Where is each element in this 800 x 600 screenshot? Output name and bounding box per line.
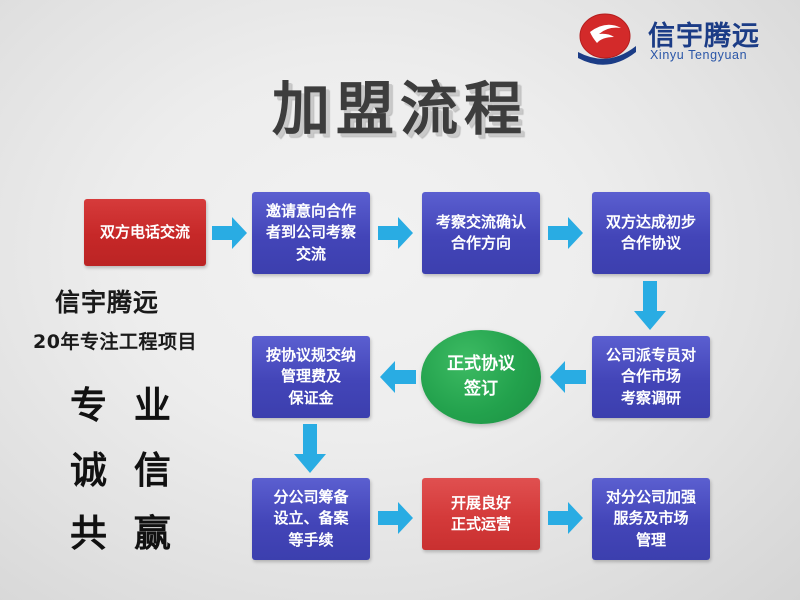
- logo-company-name-en: Xinyu Tengyuan: [650, 48, 747, 62]
- left-brand-name: 信宇腾远: [55, 283, 159, 319]
- flow-node-1[interactable]: 双方电话交流: [84, 199, 206, 266]
- left-brand-subtitle: 20年专注工程项目: [33, 327, 197, 354]
- flow-node-8[interactable]: 分公司筹备设立、备案等手续: [252, 478, 370, 560]
- page-title: 加盟流程: [0, 62, 800, 146]
- flow-node-5-label: 公司派专员对合作市场考察调研: [606, 345, 696, 409]
- arrow-n8-n9: [378, 501, 414, 535]
- arrow-n4-n5: [633, 281, 667, 331]
- flow-node-8-label: 分公司筹备设立、备案等手续: [273, 487, 348, 551]
- arrow-n3-n4: [548, 216, 584, 250]
- flow-node-7-label: 按协议规交纳管理费及保证金: [266, 345, 356, 409]
- arrow-n2-n3: [378, 216, 414, 250]
- flow-node-2-label: 邀请意向合作者到公司考察交流: [266, 201, 356, 265]
- arrow-n6-n7: [378, 360, 416, 394]
- flow-node-6[interactable]: 正式协议签订: [421, 330, 541, 424]
- flow-node-2[interactable]: 邀请意向合作者到公司考察交流: [252, 192, 370, 274]
- flow-node-10-label: 对分公司加强服务及市场管理: [606, 487, 696, 551]
- flow-node-9-label: 开展良好正式运营: [451, 493, 511, 536]
- slogan-item-1: 专 业: [70, 375, 178, 429]
- flow-node-9[interactable]: 开展良好正式运营: [422, 478, 540, 550]
- arrow-n7-n8: [293, 424, 327, 474]
- flow-node-6-label: 正式协议签订: [447, 352, 515, 401]
- flow-node-4-label: 双方达成初步合作协议: [606, 212, 696, 255]
- arrow-n1-n2: [212, 216, 248, 250]
- arrow-n5-n6: [548, 360, 586, 394]
- slogan-item-3: 共 赢: [70, 503, 178, 557]
- flow-node-3-label: 考察交流确认合作方向: [436, 212, 526, 255]
- flow-node-7[interactable]: 按协议规交纳管理费及保证金: [252, 336, 370, 418]
- flow-node-4[interactable]: 双方达成初步合作协议: [592, 192, 710, 274]
- flow-node-10[interactable]: 对分公司加强服务及市场管理: [592, 478, 710, 560]
- slide-canvas: 信宇腾远 Xinyu Tengyuan 加盟流程 信宇腾远 20年专注工程项目 …: [0, 0, 800, 600]
- flow-node-1-label: 双方电话交流: [100, 222, 190, 243]
- slogan-item-2: 诚 信: [70, 440, 178, 494]
- arrow-n9-n10: [548, 501, 584, 535]
- flow-node-5[interactable]: 公司派专员对合作市场考察调研: [592, 336, 710, 418]
- flow-node-3[interactable]: 考察交流确认合作方向: [422, 192, 540, 274]
